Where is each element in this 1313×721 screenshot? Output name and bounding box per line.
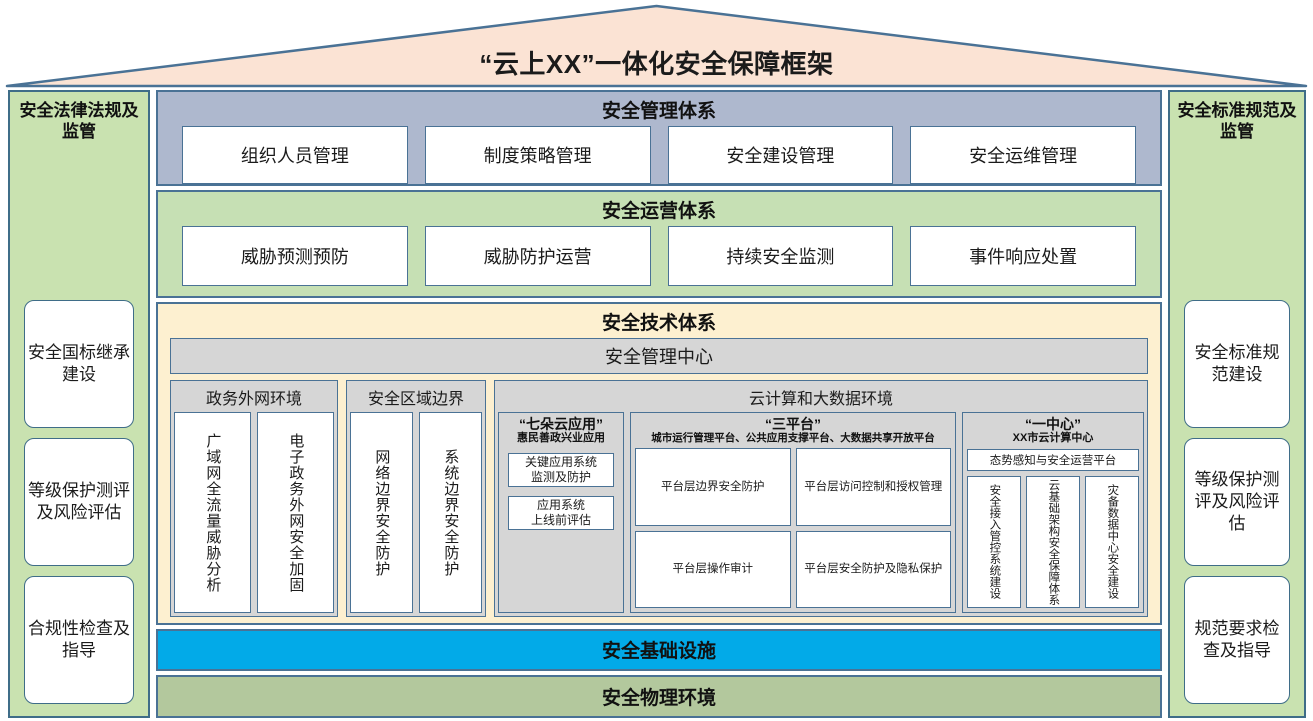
management-cell-0[interactable]: 组织人员管理 — [182, 126, 408, 184]
seven-cloud-apps-items: 关键应用系统监测及防护 应用系统上线前评估 — [503, 449, 619, 609]
three-platforms-item-3[interactable]: 平台层安全防护及隐私保护 — [796, 531, 952, 609]
gov-extranet-items: 广域网全流量威胁分析 电子政务外网安全加固 — [174, 412, 334, 613]
security-management-center[interactable]: 安全管理中心 — [170, 338, 1148, 374]
three-platforms-item-1[interactable]: 平台层访问控制和授权管理 — [796, 448, 952, 526]
one-center-body: 态势感知与安全运营平台 安全接入管控系统建设 云基础架构安全保障体系 灾备数据中… — [967, 449, 1139, 609]
left-pillar: 安全法律法规及监管 安全国标继承建设 等级保护测评及风险评估 合规性检查及指导 — [8, 90, 150, 718]
one-center-item-1[interactable]: 云基础架构安全保障体系 — [1026, 476, 1080, 609]
management-cell-2[interactable]: 安全建设管理 — [668, 126, 894, 184]
security-zone-title: 安全区域边界 — [350, 384, 482, 412]
right-pillar-title: 安全标准规范及监管 — [1170, 100, 1304, 143]
operations-system-row: 威胁预测预防 威胁防护运营 持续安全监测 事件响应处置 — [158, 226, 1160, 294]
framework-diagram: “云上XX”一体化安全保障框架 安全法律法规及监管 安全国标继承建设 等级保护测… — [0, 0, 1313, 721]
cloud-bigdata-title: 云计算和大数据环境 — [498, 384, 1144, 412]
management-system-title: 安全管理体系 — [158, 92, 1160, 126]
left-pillar-items: 安全国标继承建设 等级保护测评及风险评估 合规性检查及指导 — [10, 143, 148, 717]
left-pillar-title: 安全法律法规及监管 — [10, 100, 148, 143]
operations-cell-0[interactable]: 威胁预测预防 — [182, 226, 408, 286]
technical-columns: 政务外网环境 广域网全流量威胁分析 电子政务外网安全加固 安全区域边界 网络边界… — [170, 380, 1148, 617]
one-center-item-2[interactable]: 灾备数据中心安全建设 — [1085, 476, 1139, 609]
operations-cell-1[interactable]: 威胁防护运营 — [425, 226, 651, 286]
three-platforms-subtitle: 城市运行管理平台、公共应用支撑平台、大数据共享开放平台 — [635, 432, 951, 445]
cloud-cards: “七朵云应用” 惠民善政兴业应用 关键应用系统监测及防护 应用系统上线前评估 “… — [498, 412, 1144, 613]
seven-cloud-apps-card: “七朵云应用” 惠民善政兴业应用 关键应用系统监测及防护 应用系统上线前评估 — [498, 412, 624, 613]
technical-system-title: 安全技术体系 — [158, 304, 1160, 338]
seven-cloud-apps-item-0[interactable]: 关键应用系统监测及防护 — [508, 453, 614, 487]
management-system-row: 组织人员管理 制度策略管理 安全建设管理 安全运维管理 — [158, 126, 1160, 192]
cloud-bigdata-environment: 云计算和大数据环境 “七朵云应用” 惠民善政兴业应用 关键应用系统监测及防护 应… — [494, 380, 1148, 617]
one-center-title: “一中心” — [967, 416, 1139, 432]
left-pillar-item-2[interactable]: 合规性检查及指导 — [24, 576, 134, 704]
situational-awareness-platform[interactable]: 态势感知与安全运营平台 — [967, 449, 1139, 471]
right-pillar: 安全标准规范及监管 安全标准规范建设 等级保护测评及风险评估 规范要求检查及指导 — [1168, 90, 1306, 718]
management-system-band: 安全管理体系 组织人员管理 制度策略管理 安全建设管理 安全运维管理 — [156, 90, 1162, 186]
three-platforms-card: “三平台” 城市运行管理平台、公共应用支撑平台、大数据共享开放平台 平台层边界安… — [630, 412, 956, 613]
left-pillar-item-0[interactable]: 安全国标继承建设 — [24, 300, 134, 428]
page-title: “云上XX”一体化安全保障框架 — [0, 44, 1313, 81]
seven-cloud-apps-title: “七朵云应用” — [503, 416, 619, 432]
security-infrastructure-bar[interactable]: 安全基础设施 — [156, 629, 1162, 670]
operations-system-title: 安全运营体系 — [158, 192, 1160, 226]
left-pillar-item-1[interactable]: 等级保护测评及风险评估 — [24, 438, 134, 566]
operations-cell-2[interactable]: 持续安全监测 — [668, 226, 894, 286]
operations-cell-3[interactable]: 事件响应处置 — [910, 226, 1136, 286]
right-pillar-item-1[interactable]: 等级保护测评及风险评估 — [1184, 438, 1290, 566]
security-zone-boundary: 安全区域边界 网络边界安全防护 系统边界安全防护 — [346, 380, 486, 617]
right-pillar-item-0[interactable]: 安全标准规范建设 — [1184, 300, 1290, 428]
three-platforms-item-2[interactable]: 平台层操作审计 — [635, 531, 791, 609]
right-pillar-item-2[interactable]: 规范要求检查及指导 — [1184, 576, 1290, 704]
three-platforms-items: 平台层边界安全防护 平台层访问控制和授权管理 平台层操作审计 平台层安全防护及隐… — [635, 448, 951, 608]
security-zone-item-0[interactable]: 网络边界安全防护 — [350, 412, 413, 613]
three-platforms-title: “三平台” — [635, 416, 951, 432]
operations-system-band: 安全运营体系 威胁预测预防 威胁防护运营 持续安全监测 事件响应处置 — [156, 190, 1162, 298]
security-zone-items: 网络边界安全防护 系统边界安全防护 — [350, 412, 482, 613]
one-center-items: 安全接入管控系统建设 云基础架构安全保障体系 灾备数据中心安全建设 — [967, 476, 1139, 609]
gov-extranet-item-0[interactable]: 广域网全流量威胁分析 — [174, 412, 251, 613]
right-pillar-items: 安全标准规范建设 等级保护测评及风险评估 规范要求检查及指导 — [1170, 143, 1304, 717]
one-center-subtitle: XX市云计算中心 — [967, 432, 1139, 445]
security-physical-environment-bar[interactable]: 安全物理环境 — [156, 675, 1162, 718]
management-cell-3[interactable]: 安全运维管理 — [910, 126, 1136, 184]
main-column: 安全管理体系 组织人员管理 制度策略管理 安全建设管理 安全运维管理 安全运营体… — [156, 90, 1162, 718]
gov-extranet-title: 政务外网环境 — [174, 384, 334, 412]
three-platforms-item-0[interactable]: 平台层边界安全防护 — [635, 448, 791, 526]
gov-extranet-environment: 政务外网环境 广域网全流量威胁分析 电子政务外网安全加固 — [170, 380, 338, 617]
one-center-card: “一中心” XX市云计算中心 态势感知与安全运营平台 安全接入管控系统建设 云基… — [962, 412, 1144, 613]
security-zone-item-1[interactable]: 系统边界安全防护 — [419, 412, 482, 613]
seven-cloud-apps-item-1[interactable]: 应用系统上线前评估 — [508, 496, 614, 530]
gov-extranet-item-1[interactable]: 电子政务外网安全加固 — [257, 412, 334, 613]
seven-cloud-apps-subtitle: 惠民善政兴业应用 — [503, 432, 619, 445]
management-cell-1[interactable]: 制度策略管理 — [425, 126, 651, 184]
one-center-item-0[interactable]: 安全接入管控系统建设 — [967, 476, 1021, 609]
technical-system-band: 安全技术体系 安全管理中心 政务外网环境 广域网全流量威胁分析 电子政务外网安全… — [156, 302, 1162, 625]
